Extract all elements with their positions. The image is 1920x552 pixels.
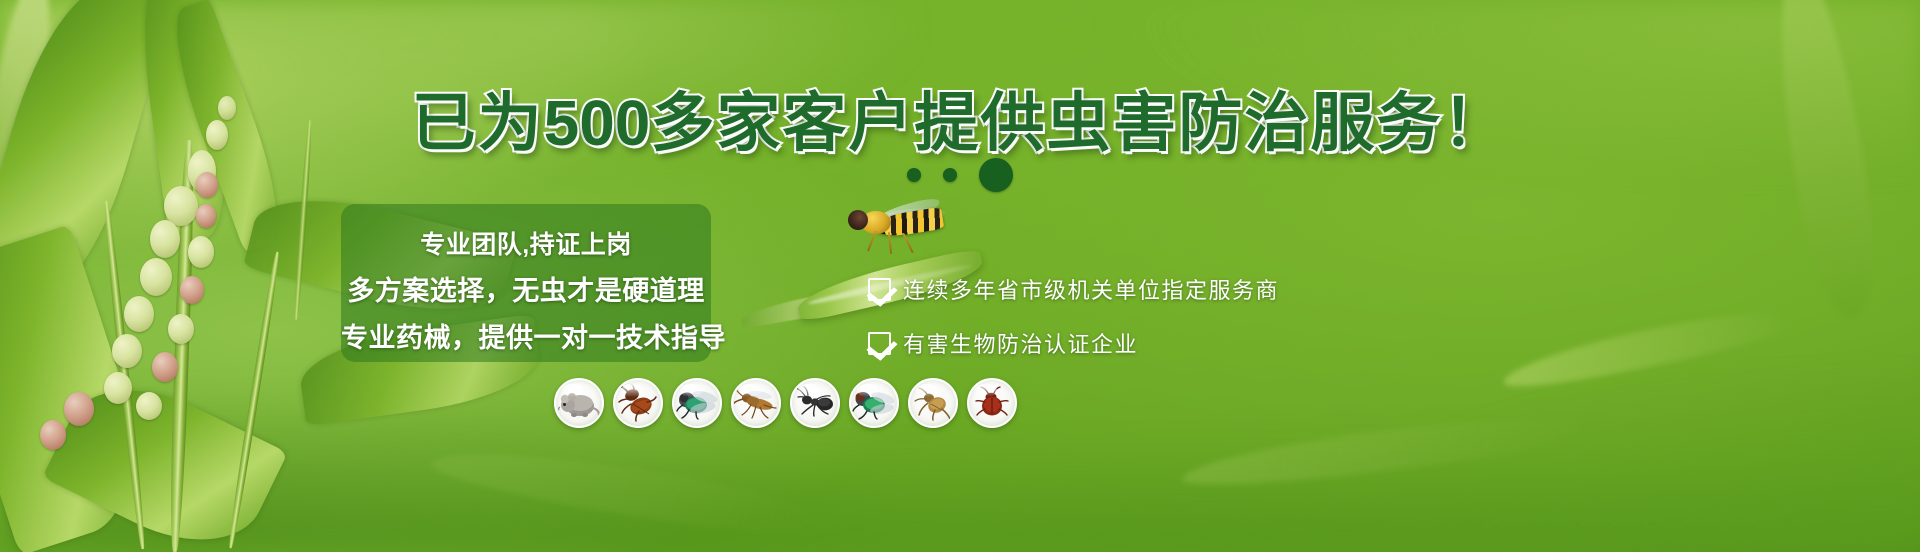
headline-customer-count: 500 (544, 87, 651, 159)
promotional-banner: 已为500多家客户提供虫害防治服务！ 专业团队,持证上岗 多方案选择，无虫才是硬… (0, 0, 1920, 552)
plant-seed-bud (188, 236, 214, 268)
checklist-item-label: 有害生物防治认证企业 (903, 327, 1138, 359)
headline-text-after: 多家客户提供虫害防治服务！ (650, 87, 1508, 159)
plant-seed-bud (196, 204, 216, 228)
feature-line-3: 专业药械，提供一对一技术指导 (341, 316, 711, 355)
flea-icon[interactable] (908, 378, 958, 428)
checkbox-checked-icon (868, 332, 891, 355)
plant-seed-bud (168, 314, 194, 344)
certification-checklist: 连续多年省市级机关单位指定服务商 有害生物防治认证企业 (868, 273, 1279, 359)
decorative-dots (0, 158, 1920, 192)
dot-small-1 (907, 168, 921, 182)
pest-icon-strip (554, 378, 1017, 428)
headline-text-before: 已为 (412, 87, 544, 159)
feature-line-2: 多方案选择，无虫才是硬道理 (341, 269, 711, 308)
hoverfly-head (848, 210, 868, 230)
plant-seed-bud (40, 420, 66, 450)
hoverfly-leg (902, 233, 913, 254)
ant-icon[interactable] (790, 378, 840, 428)
bedbug-icon[interactable] (967, 378, 1017, 428)
checklist-item: 有害生物防治认证企业 (868, 327, 1279, 359)
plant-seed-bud (104, 372, 132, 404)
checklist-item-label: 连续多年省市级机关单位指定服务商 (903, 273, 1279, 305)
mouse-icon[interactable] (554, 378, 604, 428)
blowfly-icon[interactable] (672, 378, 722, 428)
dot-small-2 (943, 168, 957, 182)
plant-seed-bud (140, 258, 172, 296)
banner-headline: 已为500多家客户提供虫害防治服务！ (0, 72, 1920, 164)
plant-seed-bud (152, 352, 178, 382)
greenfly-icon[interactable] (849, 378, 899, 428)
plant-seed-bud (136, 392, 162, 420)
plant-seed-bud (112, 334, 142, 368)
cockroach-icon[interactable] (613, 378, 663, 428)
plant-seed-bud (64, 392, 94, 426)
feature-highlight-box: 专业团队,持证上岗 多方案选择，无虫才是硬道理 专业药械，提供一对一技术指导 (341, 204, 711, 362)
dot-large (979, 158, 1013, 192)
plant-seed-bud (180, 276, 204, 304)
feature-line-1: 专业团队,持证上岗 (341, 225, 711, 261)
checklist-item: 连续多年省市级机关单位指定服务商 (868, 273, 1279, 305)
mosquito-icon[interactable] (731, 378, 781, 428)
checkbox-checked-icon (868, 278, 891, 301)
plant-seed-bud (124, 296, 154, 332)
hoverfly-icon (845, 202, 961, 258)
plant-seed-bud (150, 220, 180, 258)
